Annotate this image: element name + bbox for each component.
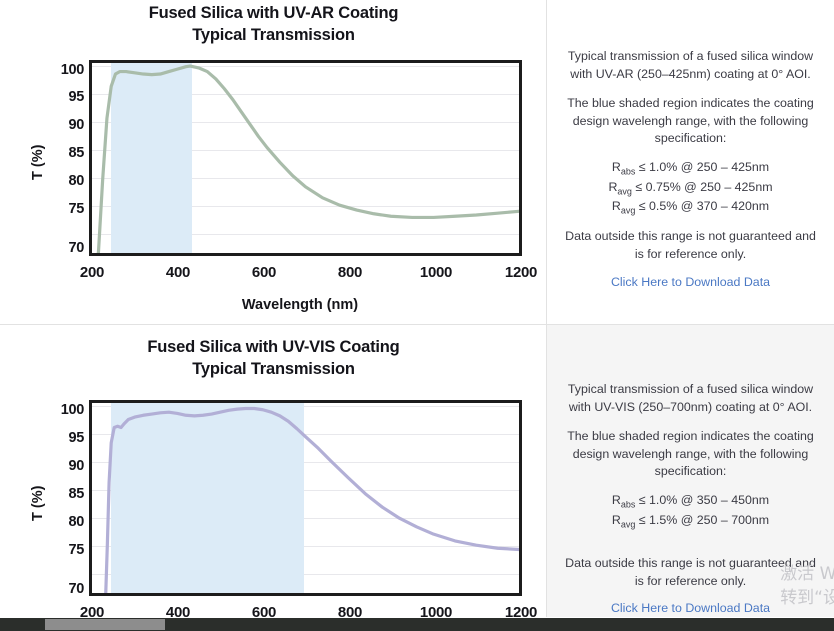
chart-title-line1: Fused Silica with UV-VIS Coating bbox=[147, 338, 399, 356]
spec-value: ≤ 0.75% @ 250 – 425nm bbox=[632, 180, 773, 194]
ytick-75: 75 bbox=[46, 542, 84, 558]
transmission-curve-uv-ar bbox=[92, 63, 519, 253]
ytick-75: 75 bbox=[46, 201, 84, 217]
xtick-400: 400 bbox=[148, 264, 208, 281]
ytick-85: 85 bbox=[46, 145, 84, 161]
panel-row-uv-vis: Fused Silica with UV-VIS Coating Typical… bbox=[0, 324, 834, 618]
chart-cell-uv-ar: Fused Silica with UV-AR Coating Typical … bbox=[0, 0, 547, 324]
description-panel-uv-vis: Typical transmission of a fused silica w… bbox=[547, 324, 834, 618]
shaded-region-note: The blue shaded region indicates the coa… bbox=[561, 428, 820, 482]
ytick-95: 95 bbox=[46, 430, 84, 446]
chart-title-uv-ar: Fused Silica with UV-AR Coating Typical … bbox=[0, 3, 547, 47]
ytick-90: 90 bbox=[46, 458, 84, 474]
download-data-link[interactable]: Click Here to Download Data bbox=[561, 601, 820, 615]
ytick-95: 95 bbox=[46, 89, 84, 105]
spec-value: ≤ 1.0% @ 250 – 425nm bbox=[635, 160, 769, 174]
y-axis-label: T (%) bbox=[30, 486, 46, 521]
spec-symbol: R bbox=[612, 513, 621, 527]
ytick-100: 100 bbox=[46, 62, 84, 78]
spec-line: Ravg ≤ 1.5% @ 250 – 700nm bbox=[561, 512, 820, 531]
chart-cell-uv-vis: Fused Silica with UV-VIS Coating Typical… bbox=[0, 324, 547, 618]
spec-subscript: avg bbox=[621, 519, 636, 529]
shaded-region-note: The blue shaded region indicates the coa… bbox=[561, 95, 820, 149]
spec-subscript: abs bbox=[621, 167, 636, 177]
intro-text: Typical transmission of a fused silica w… bbox=[561, 381, 820, 417]
panel-row-uv-ar: Fused Silica with UV-AR Coating Typical … bbox=[0, 0, 834, 324]
xtick-1000: 1000 bbox=[406, 264, 466, 281]
ytick-80: 80 bbox=[46, 514, 84, 530]
spec-subscript: avg bbox=[621, 205, 636, 215]
spec-symbol: R bbox=[612, 160, 621, 174]
scrollbar-thumb[interactable] bbox=[45, 619, 165, 630]
spec-list-uv-vis: Rabs ≤ 1.0% @ 350 – 450nm Ravg ≤ 1.5% @ … bbox=[561, 492, 820, 530]
chart-title-line1: Fused Silica with UV-AR Coating bbox=[149, 4, 399, 22]
spec-line: Rabs ≤ 1.0% @ 250 – 425nm bbox=[561, 159, 820, 178]
xtick-1200: 1200 bbox=[491, 264, 551, 281]
spec-line: Ravg ≤ 0.75% @ 250 – 425nm bbox=[561, 179, 820, 198]
ytick-70: 70 bbox=[46, 581, 84, 597]
chart-title-line2: Typical Transmission bbox=[0, 359, 547, 381]
chart-title-uv-vis: Fused Silica with UV-VIS Coating Typical… bbox=[0, 337, 547, 381]
spec-value: ≤ 1.0% @ 350 – 450nm bbox=[635, 493, 769, 507]
xtick-600: 600 bbox=[234, 264, 294, 281]
spec-symbol: R bbox=[612, 493, 621, 507]
chart-title-line2: Typical Transmission bbox=[0, 25, 547, 47]
intro-text: Typical transmission of a fused silica w… bbox=[561, 48, 820, 84]
disclaimer-text: Data outside this range is not guarantee… bbox=[561, 555, 820, 591]
description-panel-uv-ar: Typical transmission of a fused silica w… bbox=[547, 0, 834, 324]
ytick-100: 100 bbox=[46, 402, 84, 418]
spec-line: Rabs ≤ 1.0% @ 350 – 450nm bbox=[561, 492, 820, 511]
x-axis-label: Wavelength (nm) bbox=[150, 297, 450, 313]
horizontal-scrollbar[interactable] bbox=[0, 618, 834, 631]
transmission-curve-uv-vis bbox=[92, 403, 519, 593]
ytick-90: 90 bbox=[46, 117, 84, 133]
xtick-800: 800 bbox=[320, 264, 380, 281]
plot-area-uv-ar bbox=[89, 60, 522, 256]
plot-area-uv-vis bbox=[89, 400, 522, 596]
ytick-70: 70 bbox=[46, 240, 84, 256]
spec-value: ≤ 1.5% @ 250 – 700nm bbox=[635, 513, 769, 527]
spec-line: Ravg ≤ 0.5% @ 370 – 420nm bbox=[561, 198, 820, 217]
spec-subscript: avg bbox=[617, 186, 632, 196]
transmission-charts-page: Fused Silica with UV-AR Coating Typical … bbox=[0, 0, 834, 631]
download-data-link[interactable]: Click Here to Download Data bbox=[561, 275, 820, 289]
ytick-80: 80 bbox=[46, 173, 84, 189]
spec-value: ≤ 0.5% @ 370 – 420nm bbox=[635, 199, 769, 213]
spec-list-uv-ar: Rabs ≤ 1.0% @ 250 – 425nm Ravg ≤ 0.75% @… bbox=[561, 159, 820, 217]
ytick-85: 85 bbox=[46, 486, 84, 502]
xtick-200: 200 bbox=[62, 264, 122, 281]
disclaimer-text: Data outside this range is not guarantee… bbox=[561, 228, 820, 264]
spec-subscript: abs bbox=[621, 500, 636, 510]
spec-symbol: R bbox=[612, 199, 621, 213]
y-axis-label: T (%) bbox=[30, 145, 46, 180]
